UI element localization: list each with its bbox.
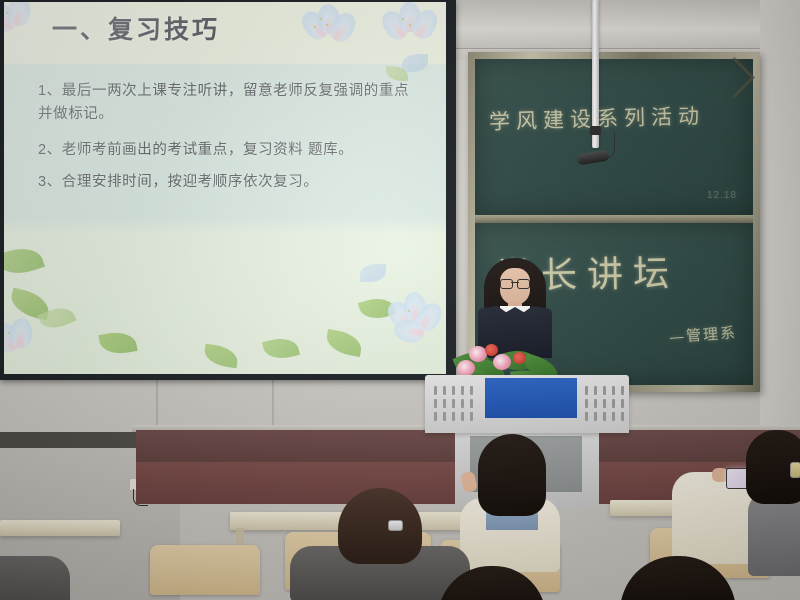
audience-head xyxy=(478,434,546,516)
slide-line-3: 3、合理安排时间，按迎考顺序依次复习。 xyxy=(38,171,420,194)
podium-vent-right xyxy=(585,386,626,421)
blackboard-divider xyxy=(475,215,753,223)
podium-vent-left xyxy=(434,386,475,421)
leaf-icon xyxy=(262,334,300,363)
desk-row-left xyxy=(0,520,120,536)
leaf-icon xyxy=(98,329,137,357)
blackboard-corner-bracket xyxy=(714,57,755,98)
leaf-icon xyxy=(358,294,396,324)
blackboard-subtitle: —管理系 xyxy=(668,321,737,347)
projector-screen-frame: 一、复习技巧 1、最后一两次上课专注听讲，留意老师反复强调的重点并做标记。 2、… xyxy=(0,0,456,380)
leaf-icon xyxy=(203,344,239,369)
slide-title: 一、复习技巧 xyxy=(52,10,220,46)
leaf-icon xyxy=(324,329,363,357)
hair-pin-icon xyxy=(790,462,800,478)
slide-line-2: 2、老师考前画出的考试重点，复习资料 题库。 xyxy=(38,139,420,162)
chair-back xyxy=(150,545,260,595)
ceiling-beam xyxy=(440,0,800,49)
wall-baseboard xyxy=(0,432,140,448)
audience-member xyxy=(0,556,70,600)
leaf-icon xyxy=(360,264,386,282)
slide-body: 1、最后一两次上课专注听讲，留意老师反复强调的重点并做标记。 2、老师考前画出的… xyxy=(38,80,420,204)
lecture-hall-photo: 一、复习技巧 1、最后一两次上课专注听讲，留意老师反复强调的重点并做标记。 2、… xyxy=(0,0,800,600)
slide-line-1: 1、最后一两次上课专注听讲，留意老师反复强调的重点并做标记。 xyxy=(38,80,420,127)
leaf-icon xyxy=(402,54,428,72)
hair-clip-icon xyxy=(388,520,403,531)
leaf-icon xyxy=(4,242,45,280)
right-wall xyxy=(760,0,800,460)
blackboard-date: 12.18 xyxy=(707,190,737,201)
podium-blue-panel xyxy=(485,378,577,418)
audience-head xyxy=(338,488,422,564)
projector-screen: 一、复习技巧 1、最后一两次上课专注听讲，留意老师反复强调的重点并做标记。 2、… xyxy=(4,2,446,374)
glasses-icon xyxy=(500,279,530,287)
